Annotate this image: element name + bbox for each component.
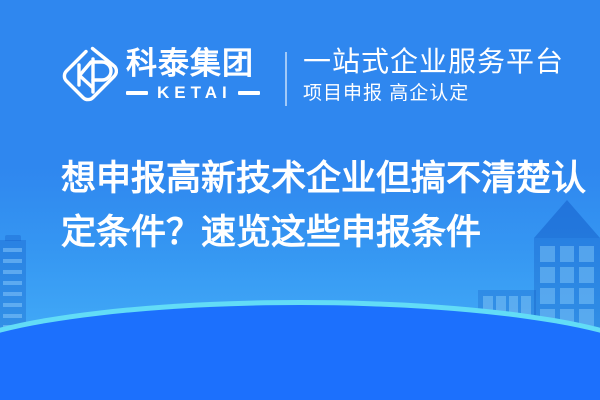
building-right-block (478, 290, 536, 362)
building-left-small-a (44, 320, 64, 362)
building-left-mid (26, 330, 42, 362)
header-divider (285, 52, 287, 106)
building-right-tower-windows (540, 246, 594, 368)
page-title-line-1: 想申报高新技术企业但搞不清楚认 (61, 152, 561, 206)
brand-lockup: 科泰集团 KETAI (62, 42, 260, 106)
brand-text-block: 科泰集团 KETAI (126, 43, 260, 105)
tagline-block: 一站式企业服务平台 项目申报 高企认定 (303, 46, 564, 106)
building-left-tower (0, 240, 26, 360)
building-left-tower-windows (3, 248, 22, 360)
building-left-small-b (64, 332, 92, 362)
building-right-block-windows (483, 296, 531, 358)
brand-rule-left (126, 91, 148, 95)
tagline-main: 一站式企业服务平台 (303, 46, 564, 78)
tagline-sub: 项目申报 高企认定 (303, 82, 564, 106)
brand-name-cn: 科泰集团 (126, 47, 260, 81)
brand-name-en-row: KETAI (126, 84, 260, 102)
building-left-tower-cap (5, 235, 21, 241)
ketai-kp-monogram-icon (62, 45, 118, 103)
promo-banner: 科泰集团 KETAI 一站式企业服务平台 项目申报 高企认定 想申报高新技术企业… (0, 0, 600, 400)
page-title: 想申报高新技术企业但搞不清楚认 定条件？速览这些申报条件 (61, 152, 561, 260)
brand-name-en: KETAI (148, 84, 238, 102)
page-title-line-2: 定条件？速览这些申报条件 (61, 206, 561, 260)
brand-rule-right (238, 91, 260, 95)
